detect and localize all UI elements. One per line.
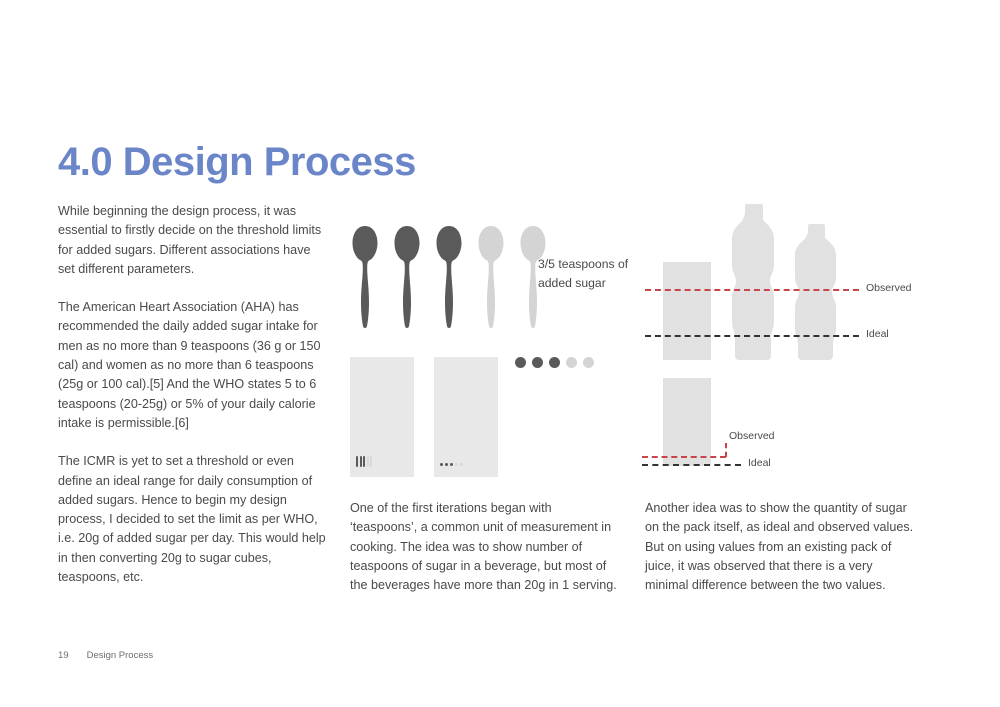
mini-dot-row [440, 463, 463, 466]
paragraph: The ICMR is yet to set a threshold or ev… [58, 452, 326, 587]
page-title: 4.0 Design Process [58, 140, 416, 185]
spoon-icon [392, 224, 422, 330]
observed-line [645, 289, 859, 291]
right-caption: Another idea was to show the quantity of… [645, 499, 917, 614]
paragraph: Another idea was to show the quantity of… [645, 499, 917, 595]
left-text-column: While beginning the design process, it w… [58, 202, 326, 606]
document-page: 4.0 Design Process While beginning the d… [0, 0, 1000, 707]
pack-silhouette [663, 378, 711, 466]
mini-dot-filled [450, 463, 453, 466]
ideal-line [642, 464, 741, 466]
pack-silhouette [663, 262, 711, 360]
spoon-icon [434, 224, 464, 330]
teaspoons-figure [350, 224, 548, 330]
observed-ideal-diagram-top: Observed Ideal [645, 200, 945, 360]
dot-empty [566, 357, 577, 368]
paragraph: One of the first iterations began with ‘… [350, 499, 622, 595]
mini-spoon-filled [363, 456, 365, 467]
mini-spoon-empty [367, 456, 369, 467]
dot-empty [583, 357, 594, 368]
teaspoons-label: 3/5 teaspoons of added sugar [538, 255, 633, 293]
observed-line [642, 456, 726, 458]
mini-spoon-filled [356, 456, 358, 467]
ideal-line [645, 335, 859, 337]
dot-filled [515, 357, 526, 368]
sugar-dots-figure [515, 357, 594, 368]
mini-dot-filled [445, 463, 448, 466]
footer-section-label: Design Process [87, 650, 154, 661]
paragraph: While beginning the design process, it w… [58, 202, 326, 279]
dot-filled [549, 357, 560, 368]
mini-dot-empty [455, 463, 458, 466]
mini-spoon-empty [370, 456, 372, 467]
mini-dot-filled [440, 463, 443, 466]
spoon-icon-empty [476, 224, 506, 330]
observed-line-label: Observed [729, 430, 775, 442]
ideal-line-label: Ideal [748, 457, 771, 469]
bottle-silhouette-small [795, 224, 839, 360]
package-mockup-dots [434, 357, 498, 477]
mini-spoon-row [356, 456, 372, 467]
mini-spoon-filled [360, 456, 362, 467]
observed-ideal-diagram-bottom: Observed Ideal [645, 370, 945, 480]
observed-line-label: Observed [866, 282, 912, 294]
mini-dot-empty [460, 463, 463, 466]
dot-filled [532, 357, 543, 368]
footer-page-number: 19 [58, 650, 69, 661]
observed-leader-line [725, 443, 727, 457]
middle-caption: One of the first iterations began with ‘… [350, 499, 622, 614]
page-footer: 19 Design Process [58, 650, 153, 661]
paragraph: The American Heart Association (AHA) has… [58, 298, 326, 433]
spoon-icon [350, 224, 380, 330]
ideal-line-label: Ideal [866, 328, 889, 340]
